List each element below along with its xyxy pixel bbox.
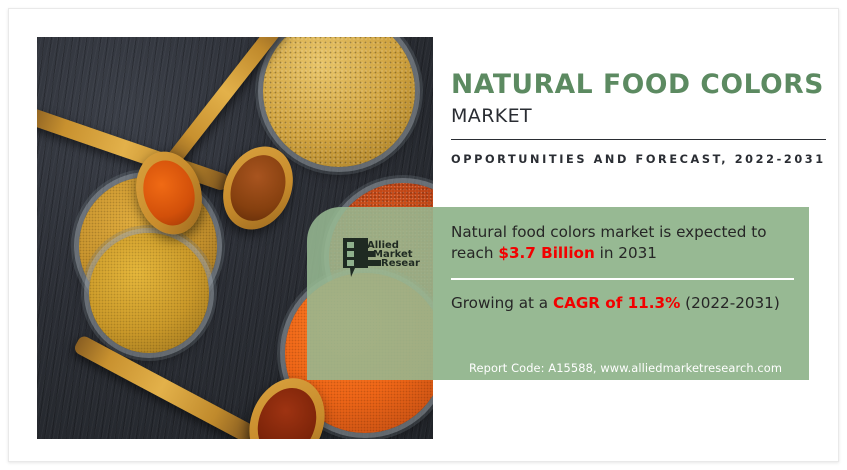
report-title: NATURAL FOOD COLORS (451, 71, 826, 100)
report-title-market: MARKET (451, 105, 826, 127)
bowl-curry (89, 233, 209, 353)
report-code-footer: Report Code: A15588, www.alliedmarketres… (469, 361, 782, 375)
report-header: NATURAL FOOD COLORS MARKET OPPORTUNITIES… (451, 71, 826, 168)
report-tagline: OPPORTUNITIES AND FORECAST, 2022-2031 (451, 151, 826, 168)
stats-divider (451, 278, 794, 280)
stat-1-suffix: in 2031 (595, 244, 657, 262)
watermark-line-3: Research (381, 258, 420, 269)
stat-2-value: CAGR of 11.3% (553, 294, 680, 312)
stat-2-prefix: Growing at a (451, 294, 553, 312)
report-infographic-page: Allied Market Research NATURAL FOOD COLO… (0, 0, 847, 470)
header-divider (451, 139, 826, 140)
seed-texture (263, 37, 415, 167)
curry-texture (89, 233, 209, 353)
amr-logo-icon: Allied Market Research (342, 237, 420, 283)
bowl-seeds (263, 37, 415, 167)
stat-1-value: $3.7 Billion (498, 244, 594, 262)
page-frame: Allied Market Research NATURAL FOOD COLO… (8, 8, 839, 462)
key-stats: Natural food colors market is expected t… (451, 222, 803, 314)
stat-cagr: Growing at a CAGR of 11.3% (2022-2031) (451, 293, 803, 314)
stat-2-suffix: (2022-2031) (680, 294, 779, 312)
allied-market-research-watermark: Allied Market Research (342, 237, 420, 283)
stat-market-size: Natural food colors market is expected t… (451, 222, 803, 264)
